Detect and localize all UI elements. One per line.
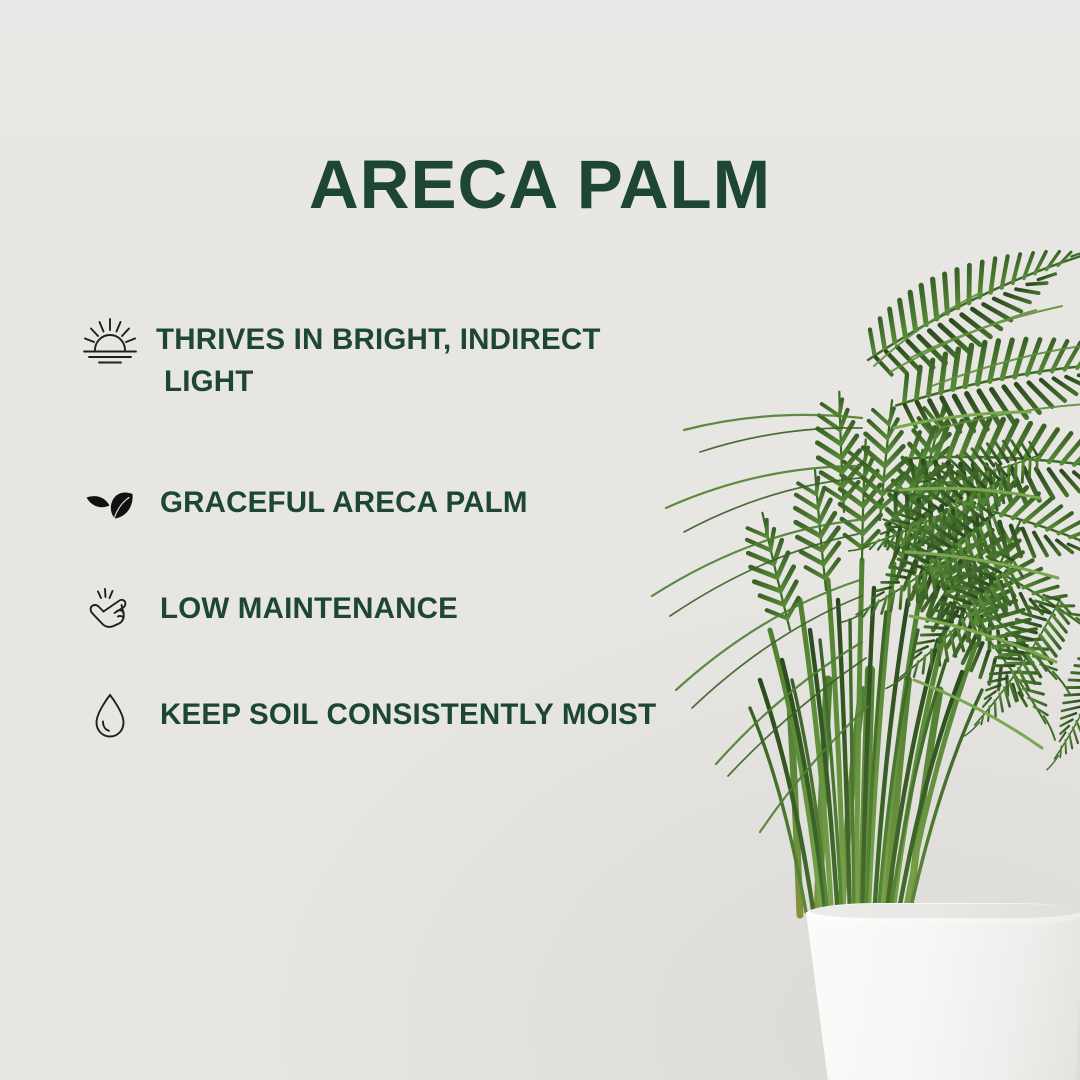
- pot-body: [806, 912, 1080, 1080]
- two-leaves-icon: [78, 475, 142, 535]
- feature-item-water: KEEP SOIL CONSISTENTLY MOIST: [78, 687, 718, 747]
- feature-item-light: THRIVES IN BRIGHT, INDIRECT LIGHT: [78, 312, 718, 403]
- snapping-fingers-icon: [78, 581, 142, 641]
- sunrise-icon: [78, 312, 142, 372]
- white-planter-pot: [806, 903, 1080, 1080]
- feature-item-maintenance: LOW MAINTENANCE: [78, 581, 718, 641]
- palm-crown-fronds: [735, 390, 1033, 638]
- feature-label-water: KEEP SOIL CONSISTENTLY MOIST: [142, 687, 718, 736]
- feature-label-species: GRACEFUL ARECA PALM: [142, 475, 718, 524]
- palm-stems: [790, 670, 940, 930]
- feature-label-light: THRIVES IN BRIGHT, INDIRECT LIGHT: [142, 312, 636, 403]
- feature-label-light-line1: THRIVES IN BRIGHT, INDIRECT: [156, 323, 601, 356]
- palm-arching-fronds-left: [829, 430, 1080, 793]
- plant-care-card: ARECA PALM: [0, 0, 1080, 1080]
- feature-item-species: GRACEFUL ARECA PALM: [78, 475, 718, 535]
- feature-list: THRIVES IN BRIGHT, INDIRECT LIGHT GRACEF…: [78, 312, 718, 747]
- water-droplet-icon: [78, 687, 142, 747]
- palm-arching-fronds-right: [849, 203, 1080, 755]
- page-title: ARECA PALM: [0, 150, 1080, 219]
- palm-highlight-tips: [894, 412, 1058, 748]
- pot-rim-inner-shadow: [810, 904, 1080, 918]
- feature-label-light-line2: LIGHT: [156, 361, 636, 403]
- feature-label-maintenance: LOW MAINTENANCE: [142, 581, 718, 630]
- palm-interior-blades: [750, 560, 982, 922]
